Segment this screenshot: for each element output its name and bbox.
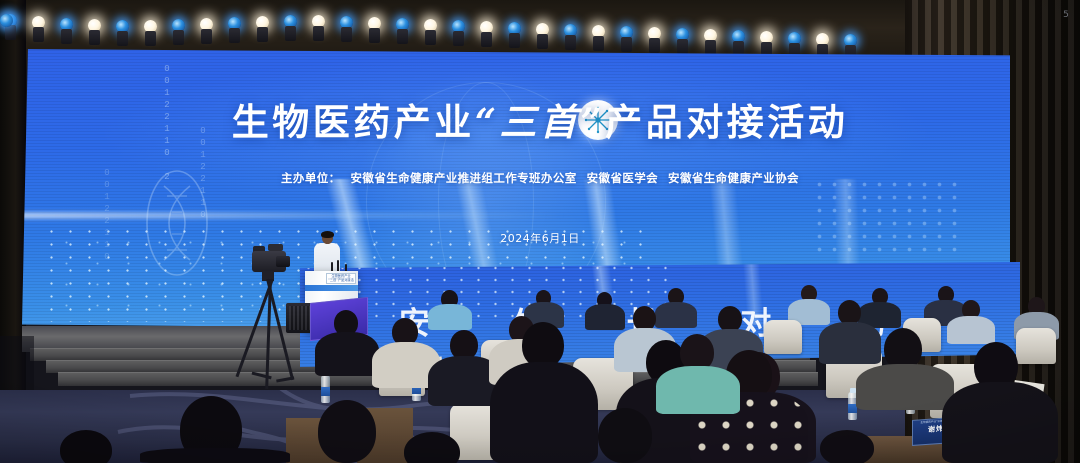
camera-lens-icon: [276, 256, 290, 267]
main-title-part-1: 生物医药产业: [232, 101, 475, 144]
organizers-label: 主办单位：: [281, 171, 341, 185]
podium-accent-band: [305, 285, 358, 291]
conference-photo: 00122110 2 00122110 00122110: [0, 0, 1080, 463]
corner-watermark: 5: [1055, 4, 1077, 26]
podium-plate-line-2: “三首”产品对接活动: [327, 278, 355, 284]
stage-left-shadow: [0, 336, 34, 392]
camera-top-handle: [268, 244, 283, 251]
organizer-3: 安徽省生命健康产业协会: [668, 171, 799, 185]
conference-chair: [764, 320, 802, 354]
organizer-1: 安徽省生命健康产业推进组工作专班办公室: [351, 171, 577, 185]
event-organizers-line: 主办单位：安徽省生命健康产业推进组工作专班办公室安徽省医学会安徽省生命健康产业协…: [0, 170, 1080, 186]
organizer-2: 安徽省医学会: [587, 171, 658, 185]
main-title-part-2: 产品对接活动: [605, 101, 848, 144]
main-title-quoted-part: “三首”: [475, 100, 606, 144]
conference-chair: [1016, 328, 1056, 364]
molecule-dot-grid-icon: [812, 178, 962, 260]
water-bottle: [321, 375, 330, 403]
podium-name-plate: 生物医药产业 “三首”产品对接活动: [326, 273, 356, 284]
event-main-title: 生物医药产业“三首”产品对接活动: [0, 92, 1080, 146]
event-date: 2024年6月1日: [0, 230, 1080, 246]
stage-light-bar: [0, 14, 1010, 54]
